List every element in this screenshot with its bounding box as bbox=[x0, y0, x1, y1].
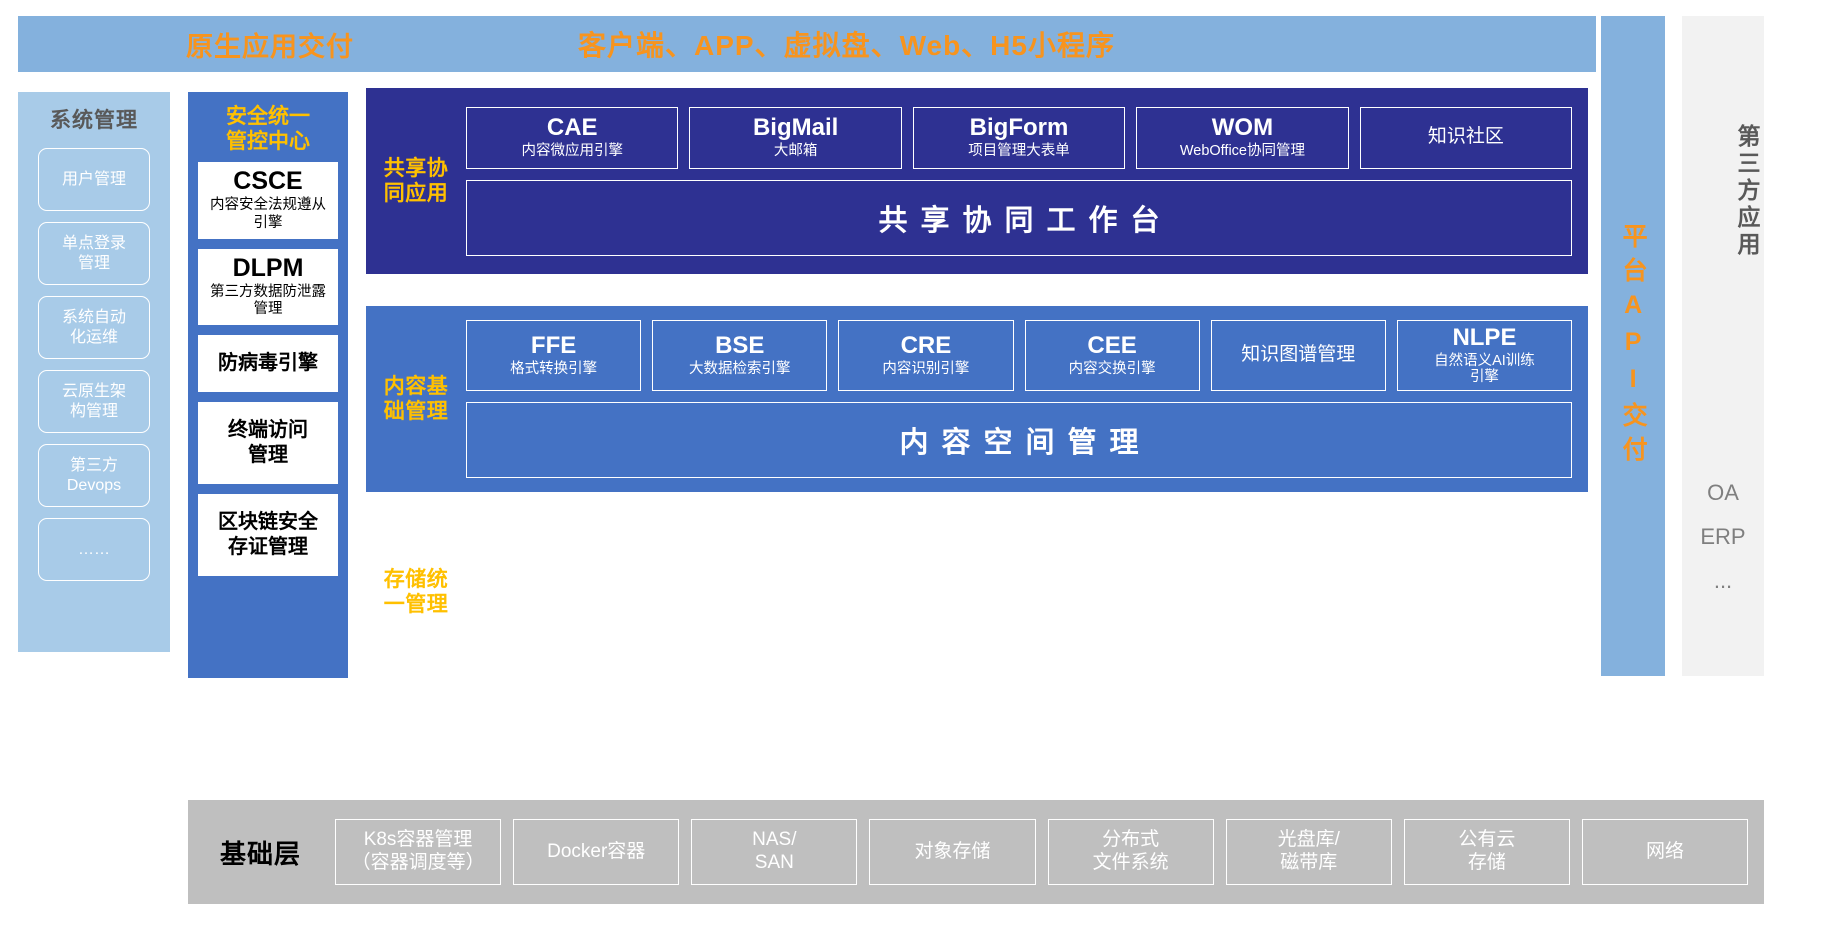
layer-storage-pools: 在线存储池 离线存储池 分级存储管理 热备容灾管理 bbox=[466, 518, 1572, 580]
security-card-dlpm-sub: 第三方数据防泄露管理 bbox=[201, 284, 335, 319]
storage-box-tiered-title: 分级存储管理 bbox=[1102, 537, 1216, 560]
content-space-management[interactable]: 内容空间管理 bbox=[466, 402, 1572, 478]
base-layer-title: 基础层 bbox=[204, 834, 323, 871]
third-party-column: 第三方应用 OA ERP ... bbox=[1682, 16, 1764, 676]
storage-box-tiered[interactable]: 分级存储管理 bbox=[1025, 518, 1293, 580]
base-box-public-cloud[interactable]: 公有云存储 bbox=[1404, 819, 1570, 885]
app-box-knowledge-community[interactable]: 知识社区 bbox=[1360, 107, 1572, 169]
sysmgmt-item-devops[interactable]: 第三方Devops bbox=[38, 444, 150, 507]
sysmgmt-item-user[interactable]: 用户管理 bbox=[38, 148, 150, 211]
app-box-cae[interactable]: CAE 内容微应用引擎 bbox=[466, 107, 678, 169]
security-card-blockchain-title: 区块链安全存证管理 bbox=[201, 510, 335, 560]
app-box-cae-title: CAE bbox=[547, 115, 598, 141]
third-party-title: 第三方应用 bbox=[1682, 124, 1764, 259]
engine-box-cre[interactable]: CRE 内容识别引擎 bbox=[838, 320, 1013, 391]
app-box-bigmail-title: BigMail bbox=[753, 115, 838, 141]
storage-box-hot-backup-title: 热备容灾管理 bbox=[1381, 537, 1495, 560]
security-card-csce[interactable]: CSCE 内容安全法规遵从引擎 bbox=[198, 162, 338, 239]
third-party-item-erp: ERP bbox=[1682, 515, 1764, 559]
app-box-bigform-sub: 项目管理大表单 bbox=[968, 143, 1070, 160]
storage-box-online-pool[interactable]: 在线存储池 bbox=[466, 518, 734, 580]
sysmgmt-item-sso[interactable]: 单点登录管理 bbox=[38, 222, 150, 285]
layer-shared-collaboration: 共享协同应用 CAE 内容微应用引擎 BigMail 大邮箱 BigForm 项… bbox=[366, 88, 1588, 274]
base-box-network[interactable]: 网络 bbox=[1582, 819, 1748, 885]
layer-content-base-label: 内容基础管理 bbox=[366, 374, 466, 424]
platform-api-label: 平台API交付 bbox=[1620, 223, 1646, 470]
system-management-title: 系统管理 bbox=[18, 104, 170, 134]
app-box-knowledge-community-title: 知识社区 bbox=[1428, 126, 1504, 149]
security-card-terminal-access[interactable]: 终端访问管理 bbox=[198, 402, 338, 484]
sysmgmt-item-more[interactable]: …… bbox=[38, 518, 150, 581]
app-box-wom[interactable]: WOM WebOffice协同管理 bbox=[1136, 107, 1348, 169]
engine-box-ffe-sub: 格式转换引擎 bbox=[510, 361, 597, 378]
storage-box-online-pool-title: 在线存储池 bbox=[553, 537, 648, 560]
security-card-dlpm-title: DLPM bbox=[201, 254, 335, 283]
engine-box-cee-sub: 内容交换引擎 bbox=[1069, 361, 1156, 378]
engine-box-nlpe-sub: 自然语义AI训练引擎 bbox=[1434, 353, 1535, 386]
layer-content-base: 内容基础管理 FFE 格式转换引擎 BSE 大数据检索引擎 CRE 内容识别引擎… bbox=[366, 306, 1588, 492]
shared-collaboration-workbench[interactable]: 共享协同工作台 bbox=[466, 180, 1572, 256]
top-banner-left-label: 原生应用交付 bbox=[186, 25, 354, 64]
layer-storage: 存储统一管理 在线存储池 离线存储池 分级存储管理 热备容灾管理 文件大数据存储… bbox=[366, 508, 1588, 676]
app-box-bigform[interactable]: BigForm 项目管理大表单 bbox=[913, 107, 1125, 169]
base-layer: 基础层 K8s容器管理（容器调度等） Docker容器 NAS/SAN 对象存储… bbox=[188, 800, 1764, 904]
third-party-items: OA ERP ... bbox=[1682, 471, 1764, 603]
engine-box-nlpe[interactable]: NLPE 自然语义AI训练引擎 bbox=[1397, 320, 1572, 391]
storage-box-offline-pool-title: 离线存储池 bbox=[832, 537, 927, 560]
app-box-bigform-title: BigForm bbox=[970, 115, 1069, 141]
third-party-item-oa: OA bbox=[1682, 471, 1764, 515]
system-management-column: 系统管理 用户管理 单点登录管理 系统自动化运维 云原生架构管理 第三方Devo… bbox=[18, 92, 170, 652]
base-box-k8s[interactable]: K8s容器管理（容器调度等） bbox=[335, 819, 501, 885]
engine-box-bse-title: BSE bbox=[715, 333, 764, 359]
app-box-bigmail-sub: 大邮箱 bbox=[774, 143, 818, 160]
app-box-wom-sub: WebOffice协同管理 bbox=[1180, 143, 1305, 160]
engine-box-bse[interactable]: BSE 大数据检索引擎 bbox=[652, 320, 827, 391]
security-card-antivirus[interactable]: 防病毒引擎 bbox=[198, 335, 338, 392]
platform-api-column: 平台API交付 bbox=[1601, 16, 1665, 676]
engine-box-nlpe-title: NLPE bbox=[1452, 325, 1516, 351]
layer-shared-collaboration-label: 共享协同应用 bbox=[366, 156, 466, 206]
layer-shared-collaboration-apps: CAE 内容微应用引擎 BigMail 大邮箱 BigForm 项目管理大表单 … bbox=[466, 107, 1572, 169]
file-bigdata-storage-management[interactable]: 文件大数据存储管理 bbox=[466, 591, 1572, 667]
security-center-column: 安全统一管控中心 CSCE 内容安全法规遵从引擎 DLPM 第三方数据防泄露管理… bbox=[188, 92, 348, 678]
engine-box-cre-title: CRE bbox=[901, 333, 952, 359]
layer-storage-label: 存储统一管理 bbox=[366, 567, 466, 617]
engine-box-knowledge-graph-title: 知识图谱管理 bbox=[1241, 344, 1355, 367]
security-center-title: 安全统一管控中心 bbox=[188, 104, 348, 154]
engine-box-ffe-title: FFE bbox=[531, 333, 576, 359]
third-party-item-more: ... bbox=[1682, 559, 1764, 603]
storage-box-offline-pool[interactable]: 离线存储池 bbox=[745, 518, 1013, 580]
top-banner-right-label: 客户端、APP、虚拟盘、Web、H5小程序 bbox=[578, 24, 1115, 64]
security-card-blockchain[interactable]: 区块链安全存证管理 bbox=[198, 494, 338, 576]
app-box-cae-sub: 内容微应用引擎 bbox=[521, 143, 623, 160]
base-box-distributed-fs[interactable]: 分布式文件系统 bbox=[1048, 819, 1214, 885]
engine-box-bse-sub: 大数据检索引擎 bbox=[689, 361, 791, 378]
security-card-terminal-access-title: 终端访问管理 bbox=[201, 418, 335, 468]
storage-box-hot-backup[interactable]: 热备容灾管理 bbox=[1304, 518, 1572, 580]
security-card-antivirus-title: 防病毒引擎 bbox=[201, 351, 335, 376]
security-card-csce-sub: 内容安全法规遵从引擎 bbox=[201, 197, 335, 232]
app-box-wom-title: WOM bbox=[1212, 115, 1273, 141]
top-banner: 原生应用交付 客户端、APP、虚拟盘、Web、H5小程序 bbox=[18, 16, 1596, 72]
engine-box-ffe[interactable]: FFE 格式转换引擎 bbox=[466, 320, 641, 391]
engine-box-cre-sub: 内容识别引擎 bbox=[882, 361, 969, 378]
sysmgmt-item-automation[interactable]: 系统自动化运维 bbox=[38, 296, 150, 359]
sysmgmt-item-cloudnative[interactable]: 云原生架构管理 bbox=[38, 370, 150, 433]
base-box-object-storage[interactable]: 对象存储 bbox=[869, 819, 1035, 885]
security-card-csce-title: CSCE bbox=[201, 167, 335, 196]
app-box-bigmail[interactable]: BigMail 大邮箱 bbox=[689, 107, 901, 169]
base-box-nas-san[interactable]: NAS/SAN bbox=[691, 819, 857, 885]
engine-box-knowledge-graph[interactable]: 知识图谱管理 bbox=[1211, 320, 1386, 391]
security-card-dlpm[interactable]: DLPM 第三方数据防泄露管理 bbox=[198, 249, 338, 326]
architecture-diagram: 原生应用交付 客户端、APP、虚拟盘、Web、H5小程序 系统管理 用户管理 单… bbox=[0, 0, 1823, 928]
engine-box-cee[interactable]: CEE 内容交换引擎 bbox=[1025, 320, 1200, 391]
base-box-optical-tape[interactable]: 光盘库/磁带库 bbox=[1226, 819, 1392, 885]
layer-content-base-engines: FFE 格式转换引擎 BSE 大数据检索引擎 CRE 内容识别引擎 CEE 内容… bbox=[466, 320, 1572, 391]
engine-box-cee-title: CEE bbox=[1087, 333, 1136, 359]
base-box-docker[interactable]: Docker容器 bbox=[513, 819, 679, 885]
